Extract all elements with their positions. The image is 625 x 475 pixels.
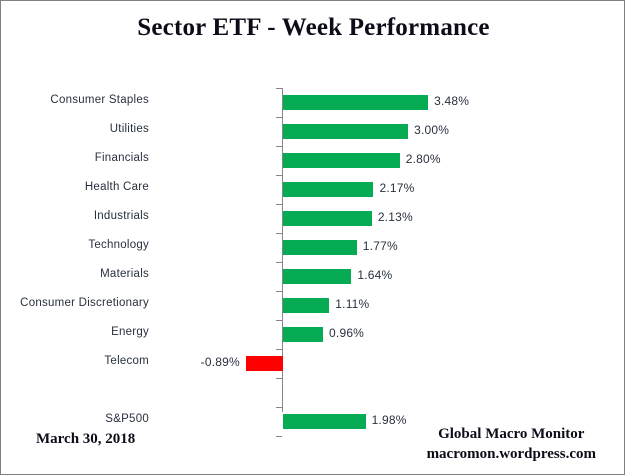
bar-row: Energy0.96%: [1, 320, 625, 349]
bar-row: Materials1.64%: [1, 262, 625, 291]
footer-brand: Global Macro Monitor macromon.wordpress.…: [427, 424, 596, 465]
bar-value-label: 1.64%: [357, 268, 392, 282]
bar-value-label: 3.48%: [434, 94, 469, 108]
bar-positive: [283, 153, 400, 168]
bar-positive: [283, 95, 428, 110]
bar-row: Health Care2.17%: [1, 175, 625, 204]
bar-value-label: -0.89%: [201, 355, 240, 369]
bar-negative: [246, 356, 283, 371]
chart-title: Sector ETF - Week Performance: [1, 14, 625, 42]
bar-value-label: 1.77%: [363, 239, 398, 253]
bar-row: Consumer Discretionary1.11%: [1, 291, 625, 320]
bar-value-label: 0.96%: [329, 326, 364, 340]
category-label: Utilities: [1, 123, 149, 135]
bar-positive: [283, 327, 323, 342]
bar-value-label: 2.13%: [378, 210, 413, 224]
bar-positive: [283, 211, 372, 226]
bar-positive: [283, 269, 351, 284]
chart-frame: Sector ETF - Week Performance Consumer S…: [0, 0, 625, 475]
chart-footer: March 30, 2018 Global Macro Monitor macr…: [1, 421, 625, 475]
category-label: Telecom: [1, 355, 149, 367]
category-label: Health Care: [1, 181, 149, 193]
bar-positive: [283, 182, 373, 197]
category-label: Consumer Staples: [1, 94, 149, 106]
bar-value-label: 1.11%: [335, 297, 369, 311]
bar-row: Financials2.80%: [1, 146, 625, 175]
bar-value-label: 2.17%: [379, 181, 414, 195]
bar-positive: [283, 240, 357, 255]
category-label: Financials: [1, 152, 149, 164]
footer-site-url: macromon.wordpress.com: [427, 444, 596, 464]
category-label: Industrials: [1, 210, 149, 222]
category-label: Consumer Discretionary: [1, 297, 149, 309]
plot-area: Consumer Staples3.48%Utilities3.00%Finan…: [1, 86, 625, 416]
category-label: Technology: [1, 239, 149, 251]
bar-value-label: 3.00%: [414, 123, 449, 137]
bar-row: Telecom-0.89%: [1, 349, 625, 378]
bar-row: Consumer Staples3.48%: [1, 88, 625, 117]
bar-positive: [283, 298, 329, 313]
bar-row: [1, 378, 625, 407]
category-label: Energy: [1, 326, 149, 338]
footer-date: March 30, 2018: [36, 431, 135, 448]
bar-value-label: 2.80%: [406, 152, 441, 166]
bar-row: Utilities3.00%: [1, 117, 625, 146]
footer-brand-name: Global Macro Monitor: [427, 424, 596, 444]
category-label: Materials: [1, 268, 149, 280]
bar-row: Technology1.77%: [1, 233, 625, 262]
bar-row: Industrials2.13%: [1, 204, 625, 233]
bar-positive: [283, 124, 408, 139]
